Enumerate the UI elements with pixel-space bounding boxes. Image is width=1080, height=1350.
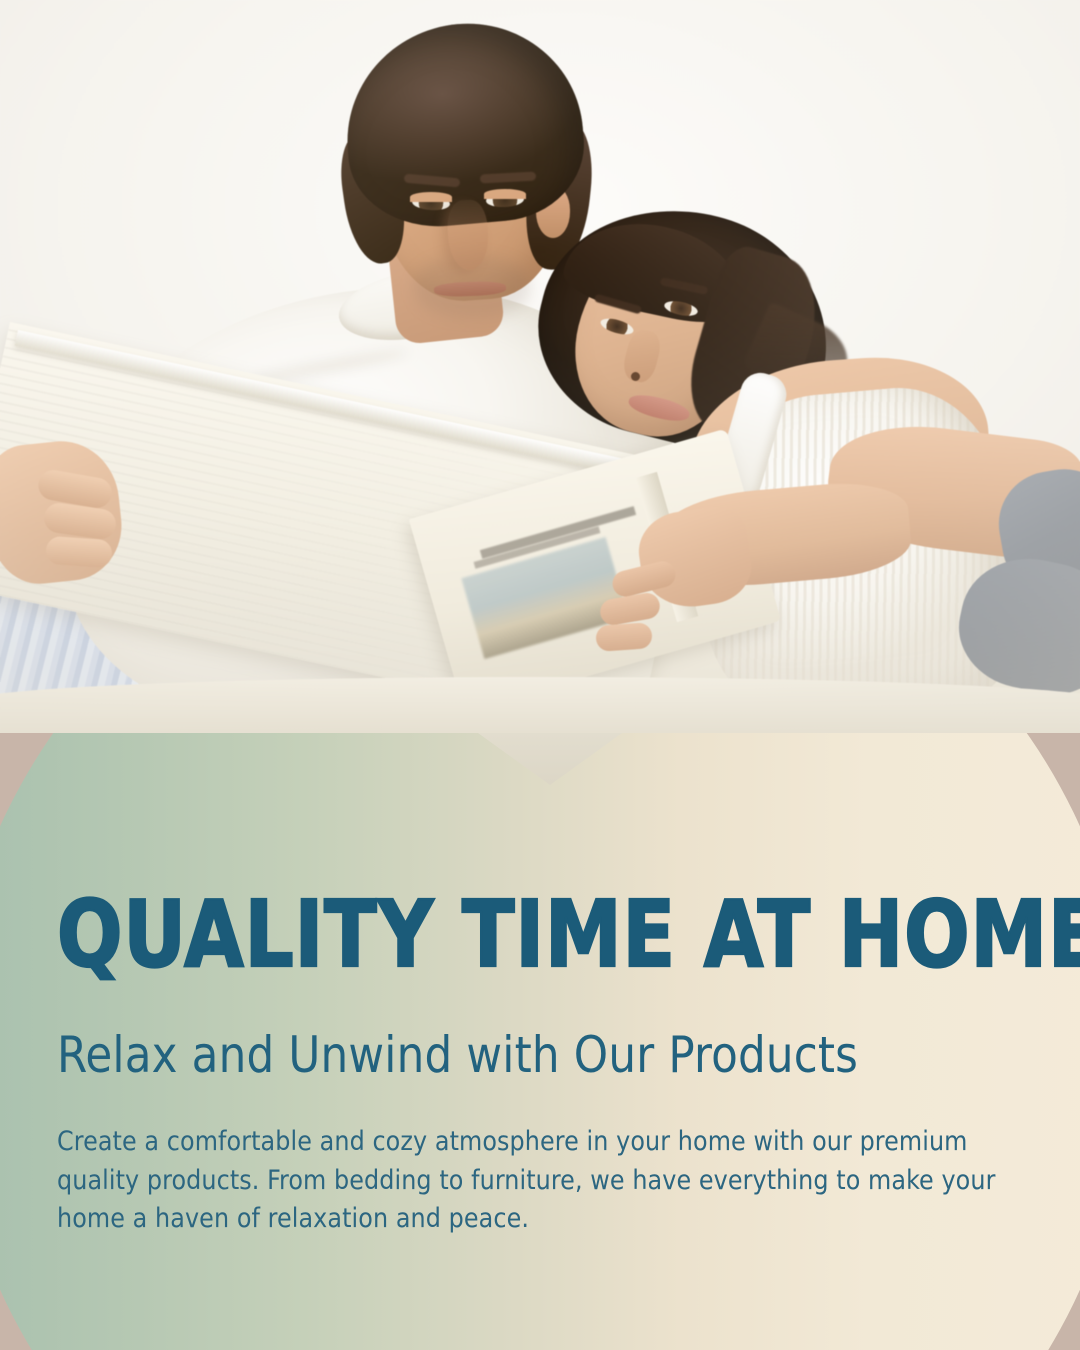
man-eyelid-right (484, 189, 526, 199)
page-subtitle: Relax and Unwind with Our Products (57, 1030, 858, 1080)
woman-finger (595, 622, 653, 652)
poster-root: QUALITY TIME AT HOME Relax and Unwind wi… (0, 0, 1080, 1350)
text-panel: QUALITY TIME AT HOME Relax and Unwind wi… (0, 733, 1080, 1350)
bed-top-surface (0, 677, 1080, 735)
man-eyelid-left (410, 192, 452, 202)
photo-canvas (0, 0, 1080, 735)
page-title: QUALITY TIME AT HOME (57, 895, 1080, 974)
hero-photo (0, 0, 1080, 735)
man-finger (45, 536, 113, 569)
page-body-text: Create a comfortable and cozy atmosphere… (57, 1123, 1022, 1239)
woman-beauty-mark (631, 372, 640, 381)
